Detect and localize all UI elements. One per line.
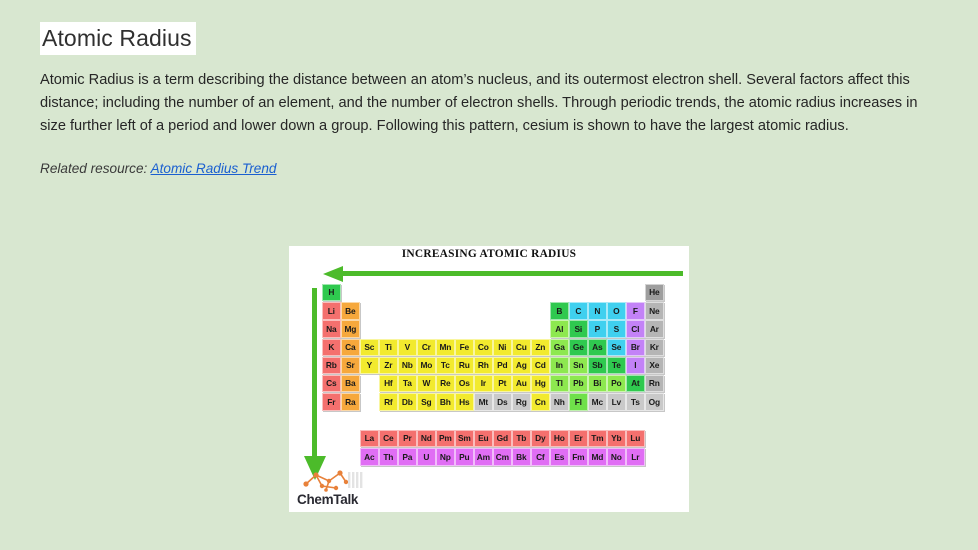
element-cell-u[interactable]: U <box>417 448 436 465</box>
element-cell-ds[interactable]: Ds <box>493 393 512 410</box>
element-cell-s[interactable]: S <box>607 320 626 337</box>
element-cell-se[interactable]: Se <box>607 339 626 356</box>
element-cell-v[interactable]: V <box>398 339 417 356</box>
element-cell-kr[interactable]: Kr <box>645 339 664 356</box>
element-cell-b[interactable]: B <box>550 302 569 319</box>
element-cell-i[interactable]: I <box>626 357 645 374</box>
element-cell-hs[interactable]: Hs <box>455 393 474 410</box>
element-cell-in[interactable]: In <box>550 357 569 374</box>
chemtalk-logo-text: ChemTalk <box>297 492 358 507</box>
element-cell-rg[interactable]: Rg <box>512 393 531 410</box>
arrow-shaft <box>312 288 317 460</box>
element-cell-pa[interactable]: Pa <box>398 448 417 465</box>
element-cell-sn[interactable]: Sn <box>569 357 588 374</box>
element-cell-bh[interactable]: Bh <box>436 393 455 410</box>
element-cell-ac[interactable]: Ac <box>360 448 379 465</box>
element-cell-rh[interactable]: Rh <box>474 357 493 374</box>
element-cell-hf[interactable]: Hf <box>379 375 398 392</box>
element-cell-tc[interactable]: Tc <box>436 357 455 374</box>
related-resource-line: Related resource: Atomic Radius Trend <box>40 161 938 176</box>
figure-title: INCREASING ATOMIC RADIUS <box>289 248 689 260</box>
element-cell-bk[interactable]: Bk <box>512 448 531 465</box>
element-cell-fe[interactable]: Fe <box>455 339 474 356</box>
element-cell-gd[interactable]: Gd <box>493 430 512 447</box>
element-cell-ce[interactable]: Ce <box>379 430 398 447</box>
element-cell-yb[interactable]: Yb <box>607 430 626 447</box>
element-cell-hg[interactable]: Hg <box>531 375 550 392</box>
element-cell-h[interactable]: H <box>322 284 341 301</box>
element-cell-fr[interactable]: Fr <box>322 393 341 410</box>
element-cell-pb[interactable]: Pb <box>569 375 588 392</box>
element-cell-c[interactable]: C <box>569 302 588 319</box>
element-cell-ra[interactable]: Ra <box>341 393 360 410</box>
element-cell-xe[interactable]: Xe <box>645 357 664 374</box>
element-cell-p[interactable]: P <box>588 320 607 337</box>
element-cell-cm[interactable]: Cm <box>493 448 512 465</box>
element-cell-th[interactable]: Th <box>379 448 398 465</box>
element-cell-sb[interactable]: Sb <box>588 357 607 374</box>
element-cell-zr[interactable]: Zr <box>379 357 398 374</box>
element-cell-mn[interactable]: Mn <box>436 339 455 356</box>
element-cell-pm[interactable]: Pm <box>436 430 455 447</box>
element-cell-mc[interactable]: Mc <box>588 393 607 410</box>
element-cell-sc[interactable]: Sc <box>360 339 379 356</box>
element-cell-os[interactable]: Os <box>455 375 474 392</box>
element-cell-er[interactable]: Er <box>569 430 588 447</box>
element-cell-fl[interactable]: Fl <box>569 393 588 410</box>
element-cell-no[interactable]: No <box>607 448 626 465</box>
element-cell-po[interactable]: Po <box>607 375 626 392</box>
element-cell-nh[interactable]: Nh <box>550 393 569 410</box>
element-cell-ge[interactable]: Ge <box>569 339 588 356</box>
element-cell-fm[interactable]: Fm <box>569 448 588 465</box>
element-cell-cs[interactable]: Cs <box>322 375 341 392</box>
element-cell-te[interactable]: Te <box>607 357 626 374</box>
element-cell-rb[interactable]: Rb <box>322 357 341 374</box>
element-cell-dy[interactable]: Dy <box>531 430 550 447</box>
element-cell-ru[interactable]: Ru <box>455 357 474 374</box>
element-cell-y[interactable]: Y <box>360 357 379 374</box>
element-cell-ca[interactable]: Ca <box>341 339 360 356</box>
element-cell-ne[interactable]: Ne <box>645 302 664 319</box>
element-cell-cl[interactable]: Cl <box>626 320 645 337</box>
element-cell-lr[interactable]: Lr <box>626 448 645 465</box>
element-cell-cf[interactable]: Cf <box>531 448 550 465</box>
element-cell-bi[interactable]: Bi <box>588 375 607 392</box>
element-cell-cu[interactable]: Cu <box>512 339 531 356</box>
element-cell-cn[interactable]: Cn <box>531 393 550 410</box>
element-cell-ba[interactable]: Ba <box>341 375 360 392</box>
element-cell-mt[interactable]: Mt <box>474 393 493 410</box>
article-body-text: Atomic Radius is a term describing the d… <box>40 69 933 138</box>
element-cell-at[interactable]: At <box>626 375 645 392</box>
element-cell-ho[interactable]: Ho <box>550 430 569 447</box>
element-cell-ag[interactable]: Ag <box>512 357 531 374</box>
element-cell-ni[interactable]: Ni <box>493 339 512 356</box>
element-cell-pr[interactable]: Pr <box>398 430 417 447</box>
element-cell-al[interactable]: Al <box>550 320 569 337</box>
element-cell-og[interactable]: Og <box>645 393 664 410</box>
element-cell-la[interactable]: La <box>360 430 379 447</box>
element-cell-nd[interactable]: Nd <box>417 430 436 447</box>
related-resource-label: Related resource: <box>40 161 151 176</box>
article-container: Atomic Radius Atomic Radius is a term de… <box>40 22 938 176</box>
element-cell-lu[interactable]: Lu <box>626 430 645 447</box>
element-cell-w[interactable]: W <box>417 375 436 392</box>
element-cell-re[interactable]: Re <box>436 375 455 392</box>
element-cell-ta[interactable]: Ta <box>398 375 417 392</box>
element-cell-li[interactable]: Li <box>322 302 341 319</box>
element-cell-am[interactable]: Am <box>474 448 493 465</box>
element-cell-o[interactable]: O <box>607 302 626 319</box>
element-cell-db[interactable]: Db <box>398 393 417 410</box>
element-cell-lv[interactable]: Lv <box>607 393 626 410</box>
element-cell-ti[interactable]: Ti <box>379 339 398 356</box>
element-cell-ga[interactable]: Ga <box>550 339 569 356</box>
element-cell-na[interactable]: Na <box>322 320 341 337</box>
element-cell-he[interactable]: He <box>645 284 664 301</box>
element-cell-sg[interactable]: Sg <box>417 393 436 410</box>
element-cell-as[interactable]: As <box>588 339 607 356</box>
element-cell-tm[interactable]: Tm <box>588 430 607 447</box>
element-cell-np[interactable]: Np <box>436 448 455 465</box>
element-cell-tl[interactable]: Tl <box>550 375 569 392</box>
element-cell-md[interactable]: Md <box>588 448 607 465</box>
element-cell-co[interactable]: Co <box>474 339 493 356</box>
element-cell-n[interactable]: N <box>588 302 607 319</box>
element-cell-zn[interactable]: Zn <box>531 339 550 356</box>
element-cell-ir[interactable]: Ir <box>474 375 493 392</box>
related-resource-link[interactable]: Atomic Radius Trend <box>151 161 277 176</box>
element-cell-nb[interactable]: Nb <box>398 357 417 374</box>
element-cell-es[interactable]: Es <box>550 448 569 465</box>
arrow-head <box>323 266 343 282</box>
element-cell-eu[interactable]: Eu <box>474 430 493 447</box>
element-cell-be[interactable]: Be <box>341 302 360 319</box>
increasing-radius-left-arrow-icon <box>323 266 683 282</box>
element-cell-cd[interactable]: Cd <box>531 357 550 374</box>
periodic-table-figure: INCREASING ATOMIC RADIUS HHeLiBeBCNOFNeN… <box>289 246 689 512</box>
element-cell-au[interactable]: Au <box>512 375 531 392</box>
element-cell-mg[interactable]: Mg <box>341 320 360 337</box>
element-cell-rn[interactable]: Rn <box>645 375 664 392</box>
element-cell-br[interactable]: Br <box>626 339 645 356</box>
element-cell-si[interactable]: Si <box>569 320 588 337</box>
molecule-icon <box>296 468 370 494</box>
element-cell-sr[interactable]: Sr <box>341 357 360 374</box>
element-cell-mo[interactable]: Mo <box>417 357 436 374</box>
element-cell-tb[interactable]: Tb <box>512 430 531 447</box>
element-cell-sm[interactable]: Sm <box>455 430 474 447</box>
element-cell-pt[interactable]: Pt <box>493 375 512 392</box>
element-cell-f[interactable]: F <box>626 302 645 319</box>
element-cell-ts[interactable]: Ts <box>626 393 645 410</box>
element-cell-k[interactable]: K <box>322 339 341 356</box>
element-cell-cr[interactable]: Cr <box>417 339 436 356</box>
element-cell-pd[interactable]: Pd <box>493 357 512 374</box>
arrow-shaft <box>341 271 683 276</box>
element-cell-pu[interactable]: Pu <box>455 448 474 465</box>
element-cell-ar[interactable]: Ar <box>645 320 664 337</box>
element-cell-rf[interactable]: Rf <box>379 393 398 410</box>
page-title: Atomic Radius <box>40 22 196 55</box>
chemtalk-logo: ChemTalk <box>296 468 370 508</box>
